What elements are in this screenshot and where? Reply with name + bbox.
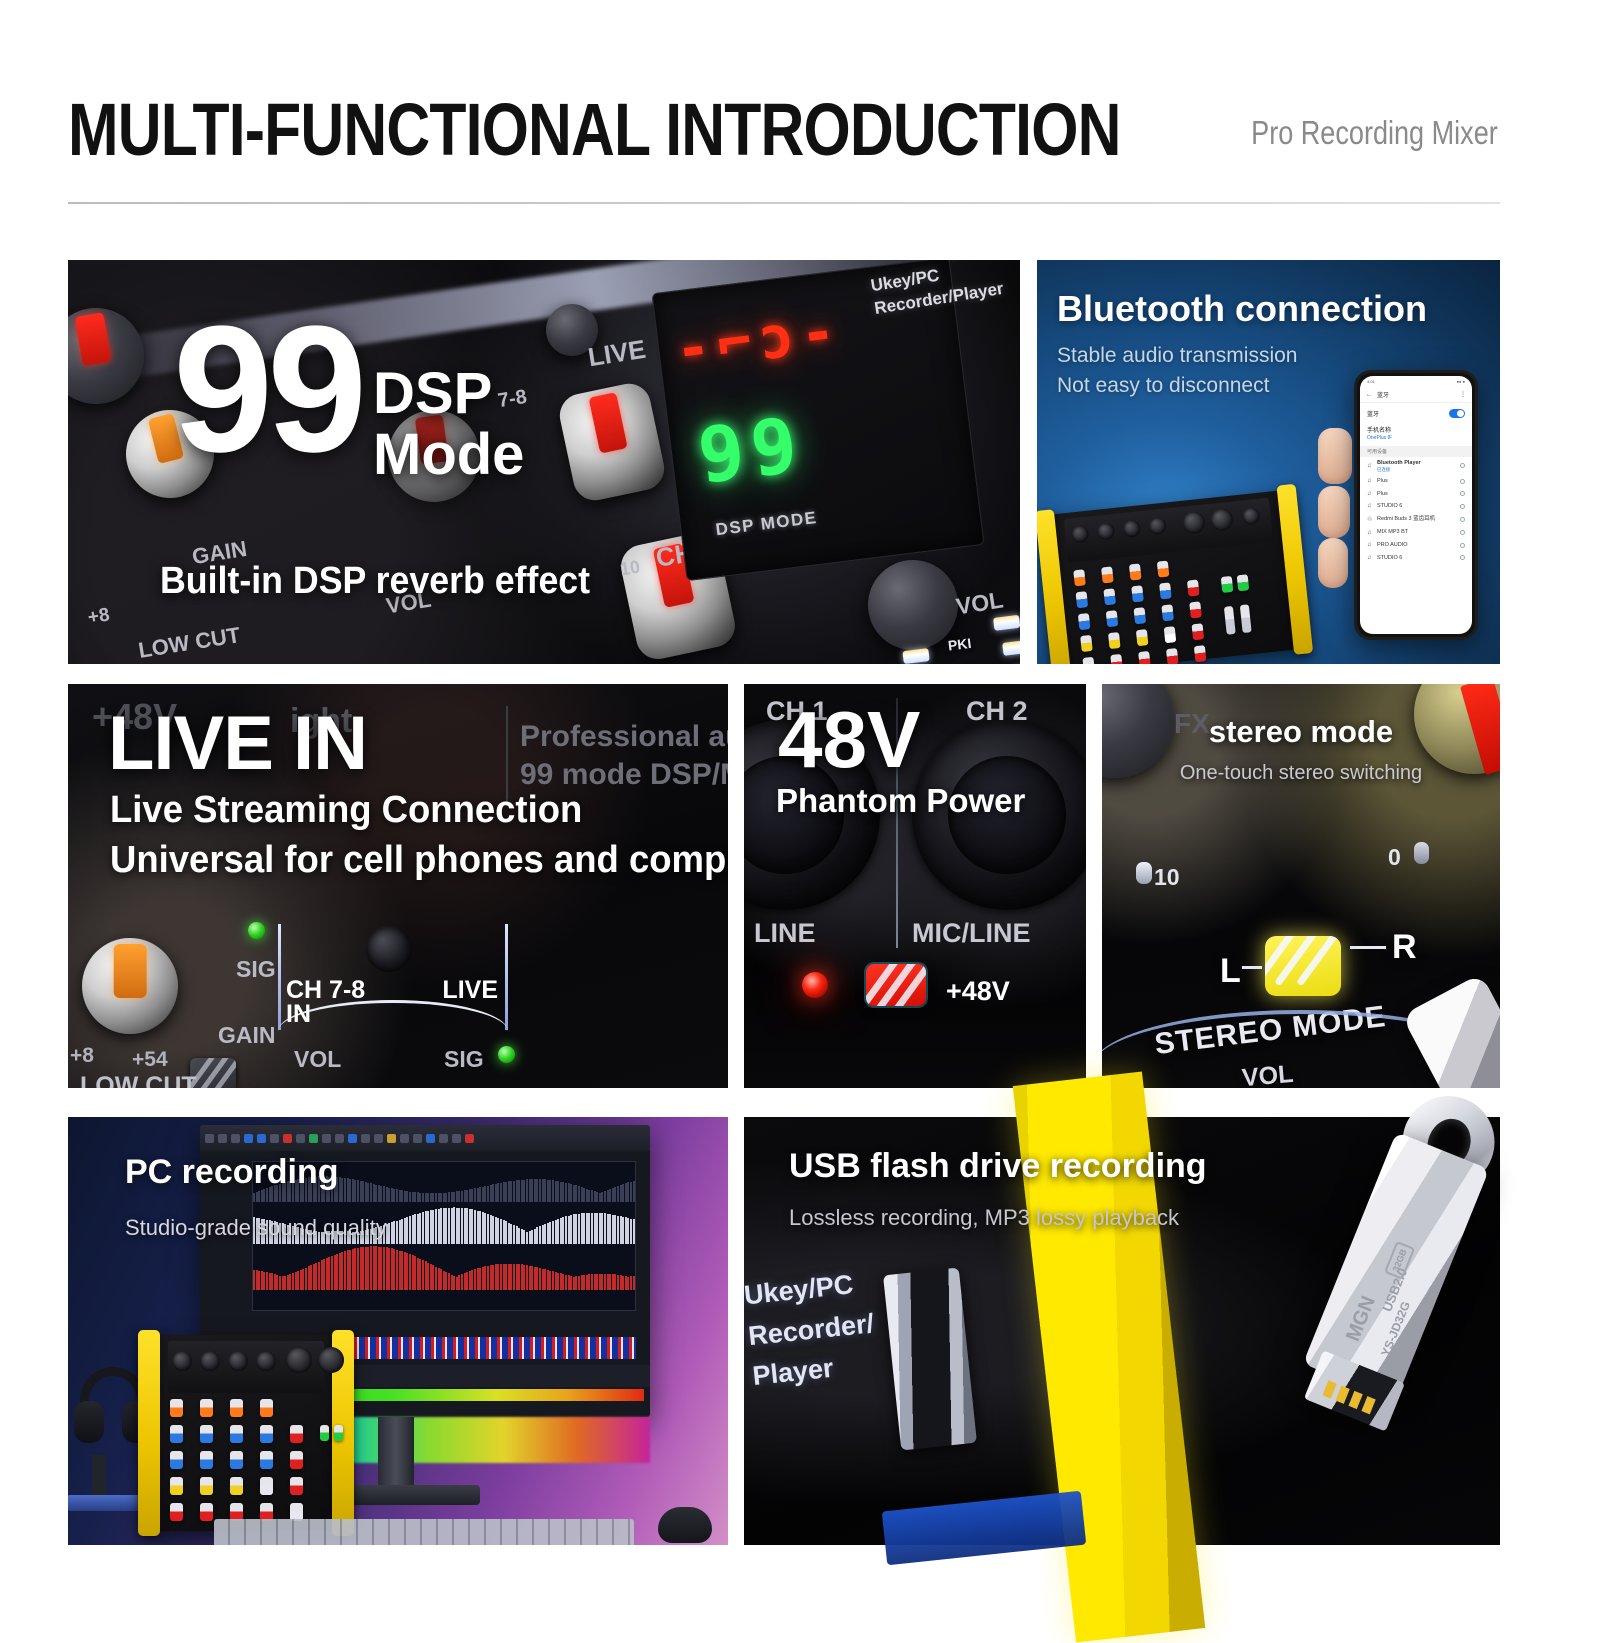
gear-icon[interactable]	[1460, 555, 1465, 560]
feature-panel-pc-recording: PC recording Studio-grade sound quality	[68, 1117, 728, 1545]
sig-led-bottom	[498, 1046, 515, 1063]
sig-led-top	[248, 922, 265, 939]
hw-label-ch2: CH 2	[966, 696, 1028, 727]
list-item[interactable]: ♫ MIX MP3 BT	[1360, 526, 1472, 539]
headphones-icon: ♲	[1367, 516, 1373, 523]
hw-label-lowcut: LOW CUT	[80, 1072, 197, 1088]
hw-label-10: 10	[618, 557, 641, 581]
device-status: 已连接	[1377, 467, 1456, 472]
hw-label-vol: VOL	[294, 1046, 341, 1073]
list-item[interactable]: ♫ Plus	[1360, 475, 1472, 488]
phone-nav-bar: ← 蓝牙 ⋮	[1360, 387, 1472, 403]
hw-label-left: L	[1220, 952, 1241, 991]
page-title: MULTI-FUNCTIONAL INTRODUCTION	[68, 88, 1121, 172]
hw-label-ukey-pc-recorder-player: Ukey/PC Recorder/ Player	[742, 1259, 914, 1397]
list-item[interactable]: ♫ PRO AUDIO	[1360, 539, 1472, 552]
low-cut-button[interactable]	[190, 1058, 236, 1088]
device-name: Plus	[1377, 478, 1456, 484]
hw-label-in: IN	[286, 1000, 311, 1029]
hw-label-mic-line: MIC/LINE	[912, 918, 1031, 949]
bluetooth-icon: ♫	[1367, 491, 1373, 497]
bluetooth-icon: ♫	[1367, 478, 1373, 484]
dsp-mode-label: DSP MODE	[715, 508, 819, 540]
list-item[interactable]: ♲ Redmi Buds 3 蓝齿耳机	[1360, 513, 1472, 526]
device-name: PRO AUDIO	[1377, 542, 1456, 548]
feature-panel-bluetooth: Bluetooth connection Stable audio transm…	[1037, 260, 1500, 664]
usb-recording-title: USB flash drive recording	[789, 1147, 1207, 1186]
kebab-menu-icon[interactable]: ⋮	[1460, 391, 1466, 398]
gear-icon[interactable]	[1460, 504, 1465, 509]
gear-icon[interactable]	[1460, 530, 1465, 535]
phantom-big-title: 48V	[778, 700, 920, 780]
hw-label-sig-top: SIG	[236, 956, 276, 983]
bluetooth-toggle-label: 蓝牙	[1367, 409, 1379, 418]
tick-mark	[1136, 862, 1152, 884]
phone-status-bar: 4:01●● ●	[1360, 376, 1472, 387]
pc-recording-title: PC recording	[125, 1153, 338, 1192]
phone-screen: 4:01●● ● ← 蓝牙 ⋮ 蓝牙 手机名称 OnePlus IF 可用设备 …	[1360, 376, 1472, 634]
hw-label-plus8: +8	[86, 604, 111, 629]
live-in-line-2: Universal for cell phones and computers	[110, 839, 728, 882]
panel-divider-line	[506, 706, 508, 802]
dsp-red-display: -⌐ɔ-	[671, 296, 846, 384]
live-in-big-title: LIVE IN	[108, 706, 367, 782]
finger	[1318, 538, 1348, 588]
bluetooth-sub-2: Not easy to disconnect	[1057, 374, 1269, 398]
usb-drive-code: 1911	[1418, 1285, 1441, 1314]
hw-label-gain: GAIN	[218, 1022, 276, 1049]
feature-panel-phantom-power: CH 1 CH 2 LINE MIC/LINE +48V 48V Phantom…	[744, 684, 1086, 1088]
bluetooth-toggle-switch[interactable]	[1449, 409, 1465, 418]
meter-label-0: 0	[964, 663, 974, 664]
available-devices-header: 可用设备	[1360, 446, 1472, 457]
monitor-stand	[378, 1417, 414, 1489]
keyboard	[214, 1519, 634, 1545]
hw-label-plus-48v: +48V	[946, 976, 1010, 1007]
hw-label-plus8: +8	[70, 1044, 94, 1068]
stereo-mode-switch[interactable]	[1265, 936, 1341, 996]
live-in-jack	[366, 926, 412, 972]
device-name: STUDIO 6	[1377, 503, 1456, 509]
my-device-label: 手机名称	[1367, 428, 1391, 434]
phantom-subtitle: Phantom Power	[776, 782, 1025, 820]
list-item[interactable]: ♫ Plus	[1360, 487, 1472, 500]
back-arrow-icon[interactable]: ←	[1366, 392, 1372, 398]
mixer-product-image	[1041, 489, 1306, 664]
usb-drive-brand: MGN	[1342, 1293, 1381, 1345]
hw-label-10: 10	[1154, 864, 1180, 891]
dsp-word-dsp: DSP	[373, 364, 492, 423]
gain-knob	[82, 938, 178, 1034]
bluetooth-icon: ♫	[1367, 542, 1373, 548]
feature-panel-usb-recording: Ukey/PC Recorder/ Player MGN USB2.0 YS-J…	[744, 1117, 1500, 1545]
gear-icon[interactable]	[1460, 463, 1465, 468]
hw-label-plus54: +54	[132, 1048, 168, 1072]
feature-panel-stereo-mode: FX 10 0 L R STEREO MODE VOL stereo mode …	[1102, 684, 1500, 1088]
bluetooth-icon: ♫	[1367, 555, 1373, 561]
mixer-yellow-rail	[138, 1330, 160, 1536]
usb-drive-capacity: 32GB	[1384, 1241, 1415, 1280]
bluetooth-icon: ♫	[1367, 503, 1373, 509]
device-name: STUDIO 6	[1377, 555, 1456, 561]
connector-line	[1242, 966, 1262, 969]
bluetooth-icon: ♫	[1367, 530, 1373, 536]
meter-label-pki: PKI	[947, 635, 972, 654]
hw-label-ch78: 7-8	[496, 386, 528, 413]
hw-label-0: 0	[1388, 844, 1401, 871]
live-in-jack-group: CH 7-8 IN LIVE	[278, 924, 508, 1044]
phone-nav-title: 蓝牙	[1377, 390, 1455, 399]
hw-label-vol: VOL	[1241, 1060, 1295, 1088]
list-item[interactable]: ♫ STUDIO 6	[1360, 500, 1472, 513]
my-device-row: 手机名称 OnePlus IF	[1360, 423, 1472, 446]
tick-mark	[1414, 842, 1429, 864]
gear-icon[interactable]	[1460, 491, 1465, 496]
usb-recording-subtitle: Lossless recording, MP3 lossy playback	[789, 1205, 1179, 1231]
feature-panel-live-in: +48V ight Professional au 99 mode DSP/M …	[68, 684, 728, 1088]
dsp-tagline: Built-in DSP reverb effect	[160, 560, 590, 603]
connector-line	[1350, 946, 1386, 949]
dsp-word-mode: Mode	[373, 425, 524, 484]
list-item[interactable]: ♫ Bluetooth Player已连接	[1360, 457, 1472, 475]
phantom-power-switch[interactable]	[866, 964, 926, 1006]
hw-label-live: LIVE	[442, 976, 498, 1005]
gear-icon[interactable]	[1460, 479, 1465, 484]
device-name: Plus	[1377, 491, 1456, 497]
page-subtitle: Pro Recording Mixer	[1251, 114, 1498, 152]
bluetooth-icon: ♫	[1367, 463, 1373, 469]
phone-mockup: 4:01●● ● ← 蓝牙 ⋮ 蓝牙 手机名称 OnePlus IF 可用设备 …	[1354, 370, 1478, 640]
header-divider	[68, 202, 1500, 204]
hw-label-right: R	[1392, 928, 1417, 967]
live-in-line-1: Live Streaming Connection	[110, 789, 582, 832]
list-item[interactable]: ♫ STUDIO 6	[1360, 552, 1472, 565]
bluetooth-sub-1: Stable audio transmission	[1057, 344, 1297, 368]
feature-panel-dsp: LIVE 7-8 CH 10 VOL GAIN LOW CUT +8 VOL -…	[68, 260, 1020, 664]
stereo-subtitle: One-touch stereo switching	[1102, 762, 1500, 785]
hw-label-sig-bottom: SIG	[444, 1046, 484, 1073]
pc-recording-subtitle: Studio-grade sound quality	[125, 1215, 387, 1241]
my-device-value: OnePlus IF	[1367, 435, 1465, 441]
phantom-power-led	[802, 972, 828, 998]
hw-label-professional-au: Professional au	[520, 720, 728, 754]
hw-label-99-mode-dsp: 99 mode DSP/M	[520, 758, 728, 792]
gear-icon[interactable]	[1460, 543, 1465, 548]
bluetooth-title: Bluetooth connection	[1057, 288, 1427, 330]
gear-icon[interactable]	[1460, 517, 1465, 522]
mixer-product-image	[146, 1335, 346, 1531]
headphone-stand	[92, 1455, 106, 1499]
finger	[1318, 428, 1352, 484]
device-name: Redmi Buds 3 蓝齿耳机	[1377, 516, 1456, 522]
dsp-green-display: 99	[693, 399, 809, 500]
finger	[1318, 486, 1350, 538]
page-header: MULTI-FUNCTIONAL INTRODUCTION Pro Record…	[68, 88, 1500, 203]
hw-label-line: LINE	[754, 918, 816, 949]
mouse	[658, 1507, 712, 1543]
bluetooth-toggle-row[interactable]: 蓝牙	[1360, 403, 1472, 423]
device-name: MIX MP3 BT	[1377, 529, 1456, 535]
dsp-big-number: 99	[173, 300, 361, 480]
device-name: Bluetooth Player	[1377, 460, 1421, 466]
stereo-title: stereo mode	[1102, 714, 1500, 750]
daw-toolbar	[200, 1125, 650, 1151]
